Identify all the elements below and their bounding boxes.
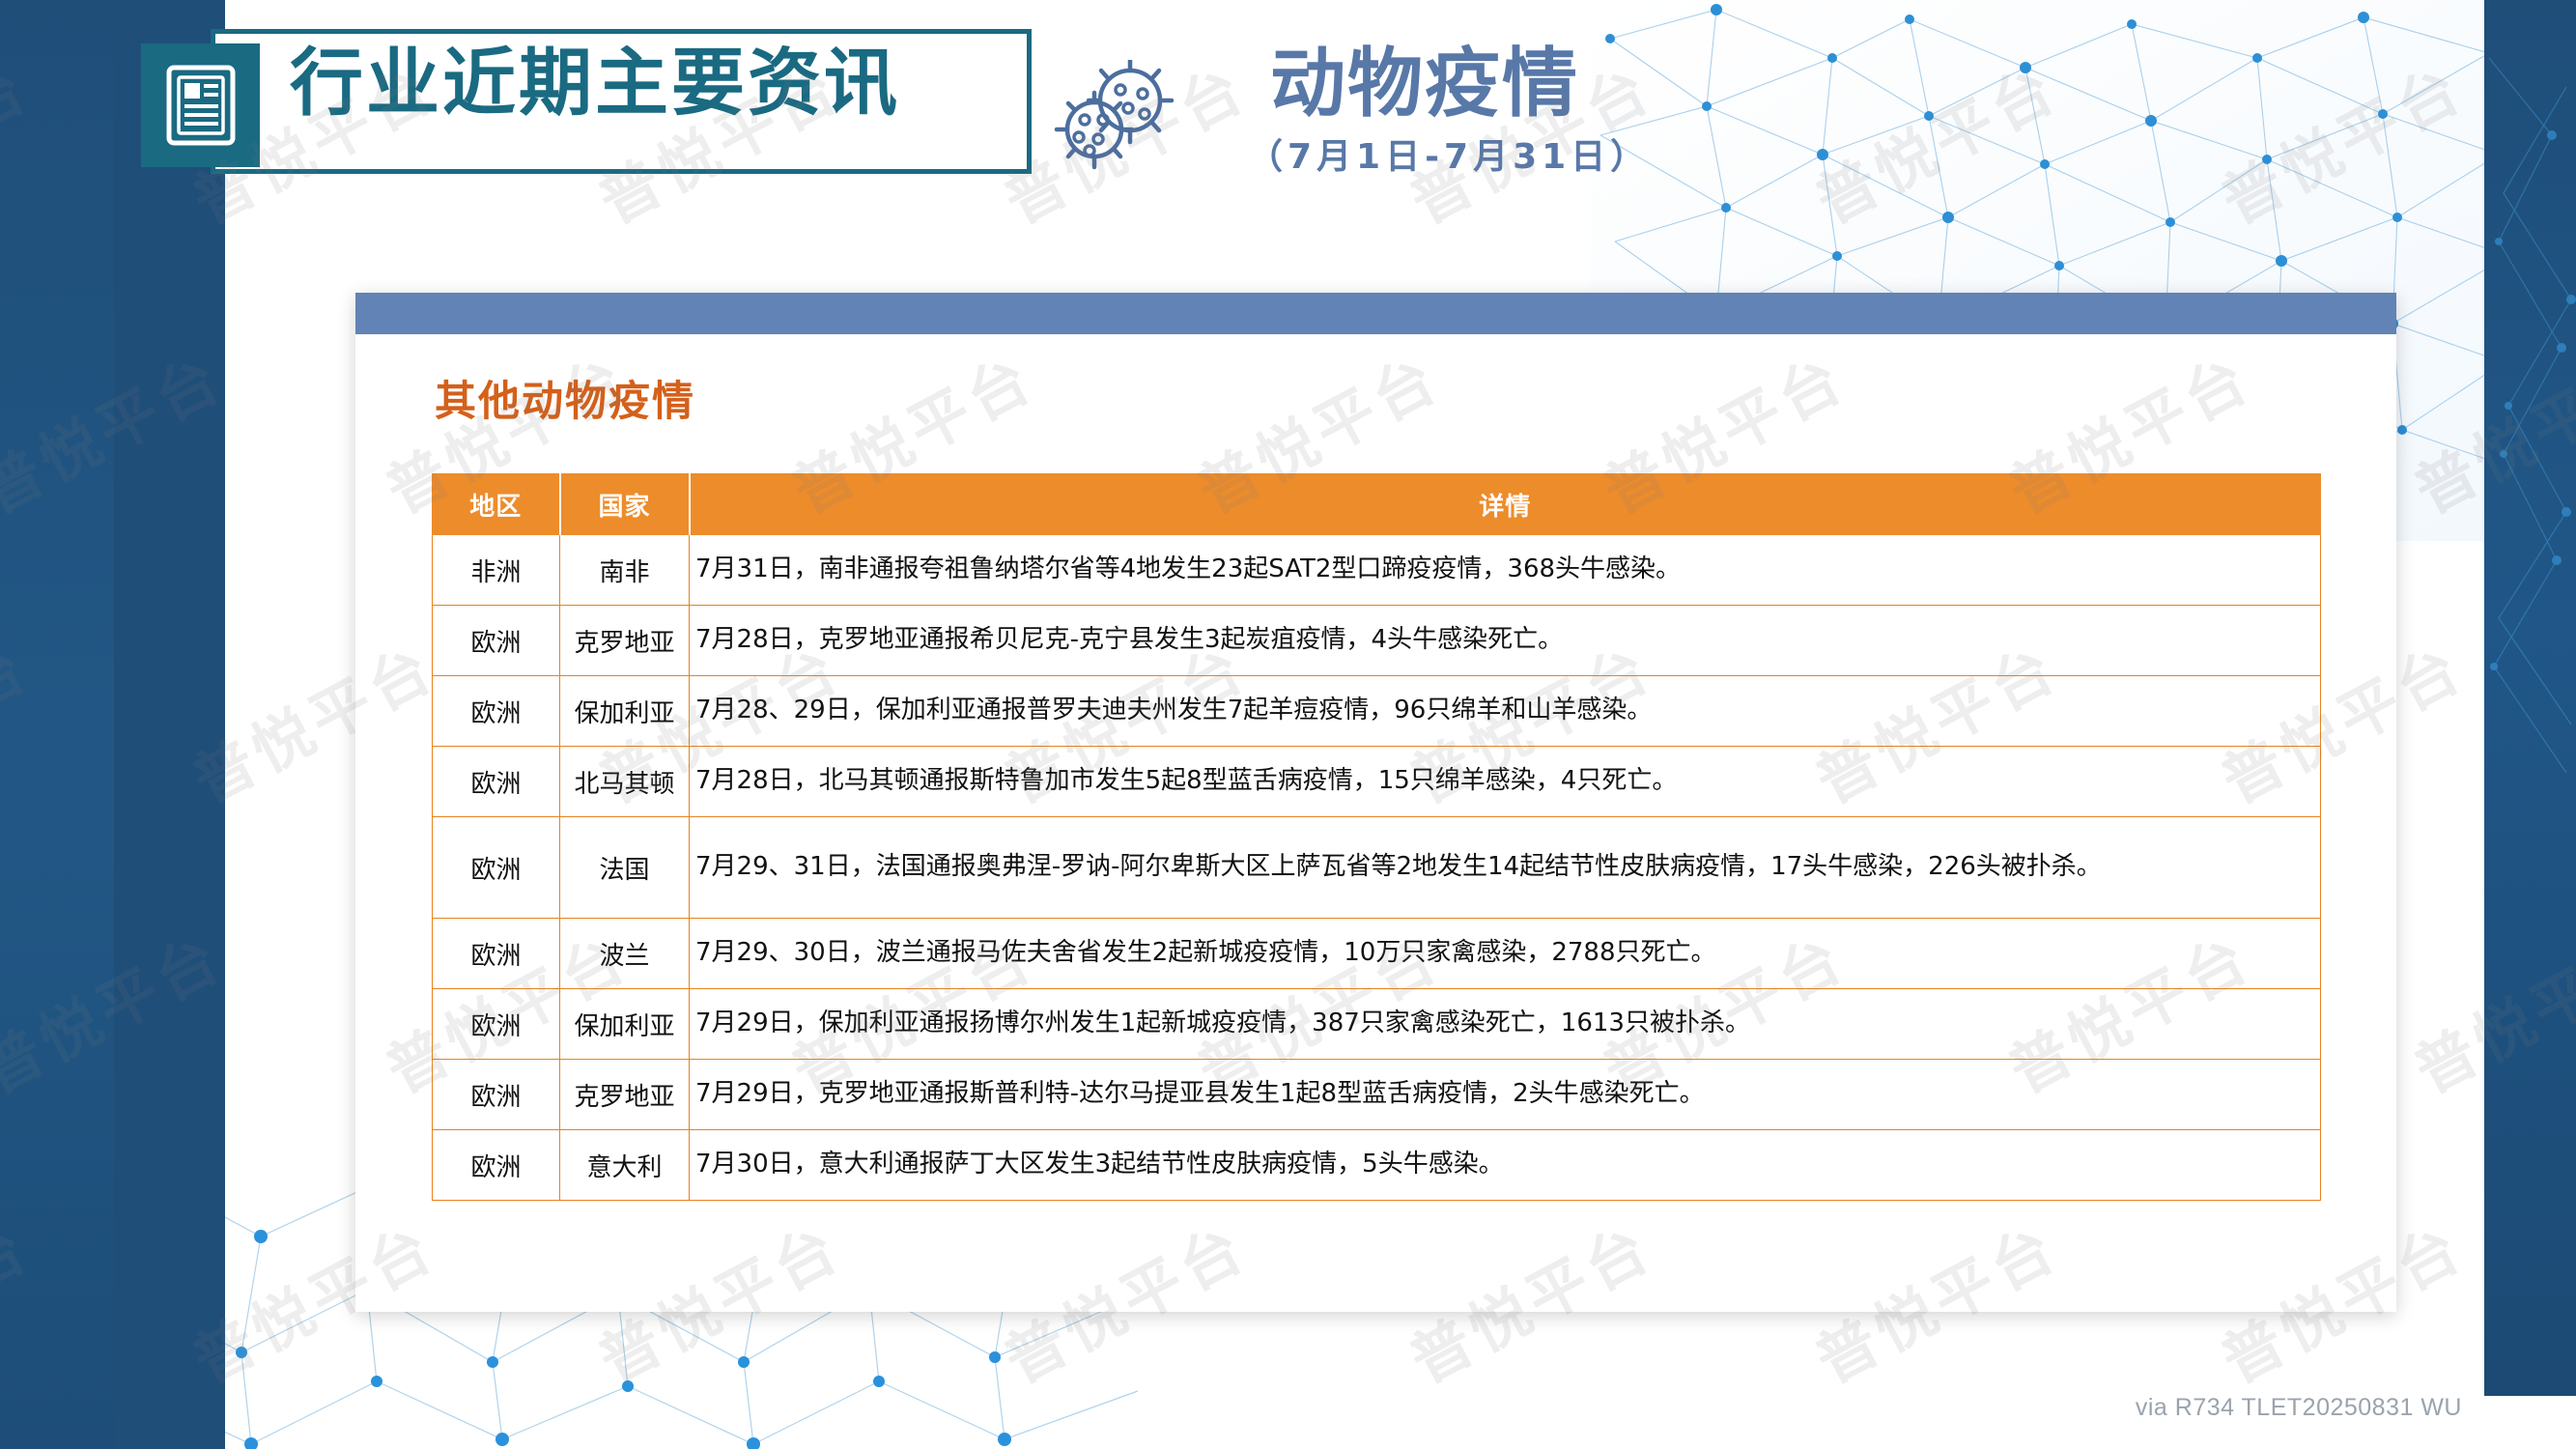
- cell-detail: 7月30日，意大利通报萨丁大区发生3起结节性皮肤病疫情，5头牛感染。: [690, 1130, 2321, 1201]
- cell-region: 欧洲: [433, 747, 560, 817]
- content-card: 其他动物疫情 地区 国家 详情 非洲南非7月31日，南非通报夸祖鲁纳塔尔省等4地…: [355, 293, 2396, 1312]
- cell-detail: 7月31日，南非通报夸祖鲁纳塔尔省等4地发生23起SAT2型口蹄疫疫情，368头…: [690, 535, 2321, 606]
- cell-detail: 7月29日，克罗地亚通报斯普利特-达尔马提亚县发生1起8型蓝舌病疫情，2头牛感染…: [690, 1060, 2321, 1130]
- left-sidebar: W STATISTICS REPORT: [0, 0, 114, 1449]
- table-row: 欧洲波兰7月29、30日，波兰通报马佐夫舍省发生2起新城疫疫情，10万只家禽感染…: [433, 919, 2321, 989]
- cell-region: 欧洲: [433, 606, 560, 676]
- column-header-country: 国家: [560, 474, 690, 535]
- subject-title: 动物疫情: [1270, 46, 1579, 122]
- cell-region: 欧洲: [433, 989, 560, 1060]
- cell-region: 欧洲: [433, 1060, 560, 1130]
- cell-country: 克罗地亚: [560, 606, 690, 676]
- right-accent-strip: [2484, 0, 2576, 1396]
- table-row: 欧洲克罗地亚7月28日，克罗地亚通报希贝尼克-克宁县发生3起炭疽疫情，4头牛感染…: [433, 606, 2321, 676]
- cell-detail: 7月29、31日，法国通报奥弗涅-罗讷-阿尔卑斯大区上萨瓦省等2地发生14起结节…: [690, 817, 2321, 919]
- subject-date-range: （7月1日-7月31日）: [1248, 128, 1650, 179]
- cell-country: 保加利亚: [560, 676, 690, 747]
- table-row: 非洲南非7月31日，南非通报夸祖鲁纳塔尔省等4地发生23起SAT2型口蹄疫疫情，…: [433, 535, 2321, 606]
- cell-country: 保加利亚: [560, 989, 690, 1060]
- cell-country: 波兰: [560, 919, 690, 989]
- column-header-region: 地区: [433, 474, 560, 535]
- cell-country: 南非: [560, 535, 690, 606]
- table-row: 欧洲保加利亚7月29日，保加利亚通报扬博尔州发生1起新城疫疫情，387只家禽感染…: [433, 989, 2321, 1060]
- table-header-row: 地区 国家 详情: [433, 474, 2321, 535]
- epidemic-table: 地区 国家 详情 非洲南非7月31日，南非通报夸祖鲁纳塔尔省等4地发生23起SA…: [432, 473, 2321, 1201]
- table-row: 欧洲北马其顿7月28日，北马其顿通报斯特鲁加市发生5起8型蓝舌病疫情，15只绵羊…: [433, 747, 2321, 817]
- cell-region: 欧洲: [433, 1130, 560, 1201]
- table-row: 欧洲意大利7月30日，意大利通报萨丁大区发生3起结节性皮肤病疫情，5头牛感染。: [433, 1130, 2321, 1201]
- cell-region: 欧洲: [433, 919, 560, 989]
- column-header-detail: 详情: [690, 474, 2321, 535]
- cell-detail: 7月29、30日，波兰通报马佐夫舍省发生2起新城疫疫情，10万只家禽感染，278…: [690, 919, 2321, 989]
- page-title: 行业近期主要资讯: [290, 46, 900, 120]
- cell-detail: 7月28日，克罗地亚通报希贝尼克-克宁县发生3起炭疽疫情，4头牛感染死亡。: [690, 606, 2321, 676]
- cell-country: 法国: [560, 817, 690, 919]
- cell-region: 欧洲: [433, 676, 560, 747]
- left-sidebar-inner-band: [114, 0, 225, 1449]
- table-body: 非洲南非7月31日，南非通报夸祖鲁纳塔尔省等4地发生23起SAT2型口蹄疫疫情，…: [433, 535, 2321, 1201]
- table-row: 欧洲克罗地亚7月29日，克罗地亚通报斯普利特-达尔马提亚县发生1起8型蓝舌病疫情…: [433, 1060, 2321, 1130]
- cell-detail: 7月29日，保加利亚通报扬博尔州发生1起新城疫疫情，387只家禽感染死亡，161…: [690, 989, 2321, 1060]
- virus-icon: [1053, 60, 1183, 171]
- table-header: 地区 国家 详情: [433, 474, 2321, 535]
- cell-region: 欧洲: [433, 817, 560, 919]
- cell-country: 北马其顿: [560, 747, 690, 817]
- cell-region: 非洲: [433, 535, 560, 606]
- table-row: 欧洲保加利亚7月28、29日，保加利亚通报普罗夫迪夫州发生7起羊痘疫情，96只绵…: [433, 676, 2321, 747]
- newspaper-icon: [141, 43, 260, 167]
- cell-detail: 7月28、29日，保加利亚通报普罗夫迪夫州发生7起羊痘疫情，96只绵羊和山羊感染…: [690, 676, 2321, 747]
- section-title: 其他动物疫情: [435, 368, 695, 428]
- table-row: 欧洲法国7月29、31日，法国通报奥弗涅-罗讷-阿尔卑斯大区上萨瓦省等2地发生1…: [433, 817, 2321, 919]
- cell-detail: 7月28日，北马其顿通报斯特鲁加市发生5起8型蓝舌病疫情，15只绵羊感染，4只死…: [690, 747, 2321, 817]
- card-top-bar: [355, 293, 2396, 334]
- cell-country: 意大利: [560, 1130, 690, 1201]
- footer-source-note: via R734 TLET20250831 WU: [2136, 1394, 2462, 1422]
- cell-country: 克罗地亚: [560, 1060, 690, 1130]
- epidemic-table-wrapper: 地区 国家 详情 非洲南非7月31日，南非通报夸祖鲁纳塔尔省等4地发生23起SA…: [432, 473, 2320, 1201]
